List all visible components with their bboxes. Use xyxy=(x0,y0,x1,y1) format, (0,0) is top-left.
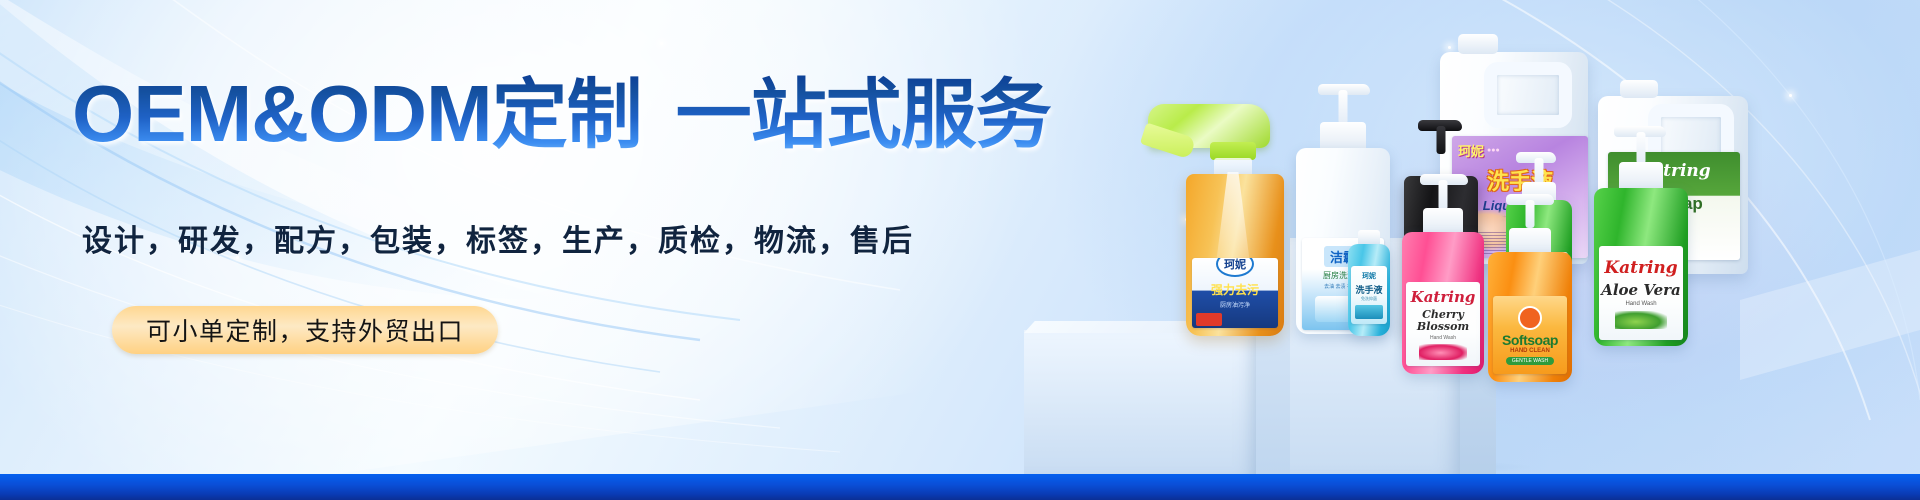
page-title: OEM&ODM定制一站式服务 xyxy=(72,74,1051,154)
label-aloe-vera: Katring Aloe Vera Hand Wash xyxy=(1599,246,1683,340)
label-title-cn: 洗手液 xyxy=(1355,283,1382,296)
label-title-en: Aloe Vera xyxy=(1601,281,1681,299)
banner-text-block: OEM&ODM定制一站式服务 设计，研发，配方，包装，标签，生产，质检，物流，售… xyxy=(72,0,1072,500)
label-sub-en: Hand Wash xyxy=(1625,301,1656,307)
product-showcase: 珂妮 ●●● 洗手液 Liquid Soap 清洁洁肤 滋润 Katring H… xyxy=(1000,0,1920,500)
label-sub-en: GENTLE WASH xyxy=(1506,357,1554,365)
label-brand-en: Softsoap xyxy=(1502,332,1558,348)
product-blue-sanitizer-bottle: 珂妮 洗手液 免洗抑菌 xyxy=(1348,244,1390,336)
label-title-en: Cherry Blossom xyxy=(1417,308,1469,333)
label-brand-cn: 珂妮 xyxy=(1224,258,1246,272)
status-badge: 可小单定制，支持外贸出口 xyxy=(112,306,498,354)
product-pink-cherry-bottle: Katring Cherry Blossom Hand Wash xyxy=(1402,206,1484,374)
label-brand-en: Katring xyxy=(1604,258,1677,278)
label-sub-cn: 厨房油污净 xyxy=(1220,300,1250,309)
label-blue-sanitizer: 珂妮 洗手液 免洗抑菌 xyxy=(1351,266,1387,324)
podium-low xyxy=(1024,330,1256,476)
headline-chinese-2: 一站式服务 xyxy=(676,73,1051,158)
label-brand-cn: 珂妮 xyxy=(1362,271,1376,281)
label-sub-cn: 免洗抑菌 xyxy=(1361,296,1377,302)
product-trigger-spray-bottle: 珂妮 强力去污 厨房油污净 xyxy=(1186,108,1284,336)
headline-chinese-1: 定制 xyxy=(492,73,642,158)
product-green-aloe-bottle: Katring Aloe Vera Hand Wash xyxy=(1594,160,1688,346)
bottom-accent-bar xyxy=(0,474,1920,500)
label-sub-en: Hand Wash xyxy=(1430,335,1456,341)
label-title-cn: 强力去污 xyxy=(1211,281,1259,298)
label-cherry-blossom: Katring Cherry Blossom Hand Wash xyxy=(1406,282,1480,366)
headline-english: OEM&ODM xyxy=(72,69,492,158)
promo-banner: OEM&ODM定制一站式服务 设计，研发，配方，包装，标签，生产，质检，物流，售… xyxy=(0,0,1920,500)
label-orange-softsoap: Softsoap HAND CLEAN GENTLE WASH xyxy=(1493,296,1567,374)
label-brand-en: Katring xyxy=(1411,288,1476,306)
status-badge-label: 可小单定制，支持外贸出口 xyxy=(146,312,464,348)
label-title-en: HAND CLEAN xyxy=(1510,348,1550,354)
product-orange-softsoap-bottle: Softsoap HAND CLEAN GENTLE WASH xyxy=(1488,224,1572,382)
service-list-subtitle: 设计，研发，配方，包装，标签，生产，质检，物流，售后 xyxy=(82,216,914,260)
